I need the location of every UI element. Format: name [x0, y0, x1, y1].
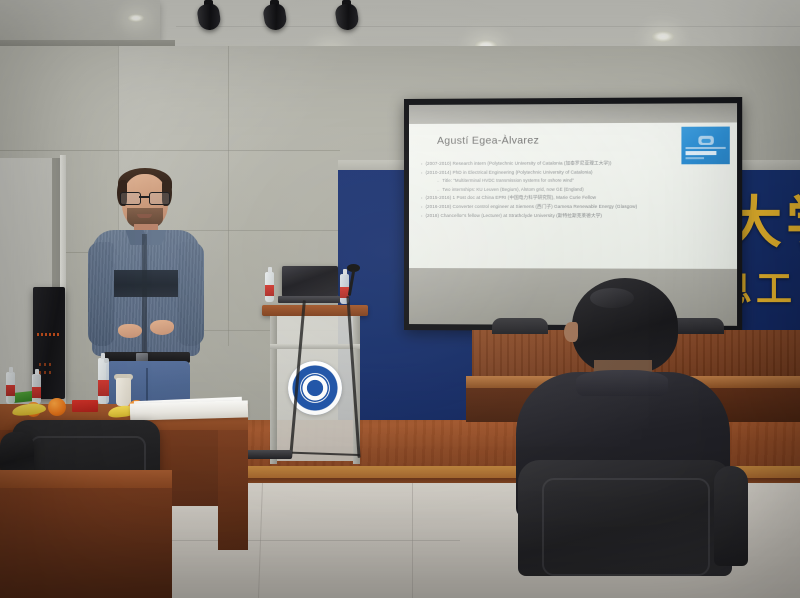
bullet-marker: –	[437, 187, 439, 193]
second-table-apron	[0, 488, 172, 598]
front-table-leg	[218, 430, 248, 550]
slide-bullet-item: • (2010-2014) PhD in Electrical Engineer…	[421, 169, 731, 176]
bullet-text: (2007-2010) Research intern (Polytechnic…	[425, 160, 611, 167]
ceiling-downlight	[652, 31, 674, 42]
presenter-left-arm	[88, 242, 114, 346]
slide-bullet-list: • (2007-2010) Research intern (Polytechn…	[421, 160, 731, 221]
slide-bullet-item: • (2007-2010) Research intern (Polytechn…	[421, 160, 731, 167]
bullet-marker: •	[421, 195, 422, 201]
presenter-mouth	[137, 214, 152, 218]
presentation-slide: Agustí Egea-Àlvarez • (2007-2010) Resear…	[409, 122, 737, 268]
logo-text-sub	[686, 157, 705, 159]
bullet-marker: •	[421, 213, 422, 219]
power-strip	[244, 450, 292, 459]
bullet-marker: •	[421, 204, 422, 210]
bullet-text: (2015-2016) 1 Post doc at China EPRI (中国…	[425, 195, 596, 201]
lectern-top-surface	[262, 305, 368, 316]
water-bottle	[6, 372, 15, 404]
presenter-left-hand	[118, 324, 142, 338]
laptop-keyboard	[278, 296, 340, 303]
orange-fruit	[48, 398, 66, 416]
adjacent-chair	[714, 466, 748, 566]
projection-letterbox-top	[409, 103, 737, 124]
bullet-marker: –	[437, 178, 439, 184]
presenter-right-arm	[178, 242, 204, 346]
laptop-screen	[282, 266, 338, 297]
lectern-leg	[270, 316, 277, 464]
ceiling-downlight	[128, 14, 144, 22]
water-bottle	[32, 374, 41, 404]
bullet-text: (2018) Chancellor's fellow (Lecturer) at…	[425, 213, 602, 219]
bullet-marker: •	[421, 161, 422, 167]
slide-bullet-item: • (2015-2016) 1 Post doc at China EPRI (…	[421, 195, 731, 201]
attendee-ear	[564, 322, 578, 342]
paper-cup	[116, 378, 131, 406]
water-bottle	[265, 272, 274, 302]
track-light-icon	[334, 0, 360, 30]
bullet-text: Two internships: KU Leuven (Begium), Als…	[442, 187, 583, 193]
red-box	[72, 400, 98, 412]
track-light-icon	[196, 0, 222, 30]
attendee-seated-back-view	[516, 278, 738, 518]
bullet-text: Title: "Multiterminal HVDC transmission …	[442, 178, 574, 184]
wall-panel-seam	[0, 150, 340, 151]
bullet-text: (2010-2014) PhD in Electrical Engineerin…	[425, 169, 592, 175]
presenter-shirt-placket	[142, 234, 147, 354]
logo-text-main	[686, 150, 717, 154]
attendee-collar	[576, 370, 668, 396]
bullet-marker: •	[421, 170, 422, 176]
attendee-hair-highlight	[590, 288, 634, 308]
wall-panel-seam	[228, 46, 229, 346]
slide-bullet-item: – Title: "Multiterminal HVDC transmissio…	[421, 178, 731, 185]
bullet-text: (2016-2018) Converter control engineer a…	[425, 204, 637, 210]
tile-grout-line	[412, 483, 413, 598]
slide-bullet-item: • (2016-2018) Converter control engineer…	[421, 204, 731, 210]
slide-bullet-item: • (2018) Chancellor's fellow (Lecturer) …	[421, 213, 731, 219]
slide-bullet-item: – Two internships: KU Leuven (Begium), A…	[421, 186, 731, 192]
paper-stack	[130, 400, 248, 420]
lectern-crossbar	[270, 344, 360, 349]
attendee-chair-panel	[542, 478, 710, 576]
track-light-icon	[262, 0, 288, 30]
university-of-strathclyde-logo	[681, 127, 729, 165]
slide-title: Agustí Egea-Àlvarez	[437, 134, 539, 146]
water-bottle	[98, 358, 109, 404]
presenter-right-hand	[150, 320, 174, 335]
lecture-room-photo: 大学 息工 Agustí Egea-Àlvarez • (2007-2010) …	[0, 0, 800, 598]
eyeglasses-icon	[120, 192, 170, 203]
logo-mark-icon	[698, 136, 713, 145]
logo-text-top	[686, 147, 726, 149]
